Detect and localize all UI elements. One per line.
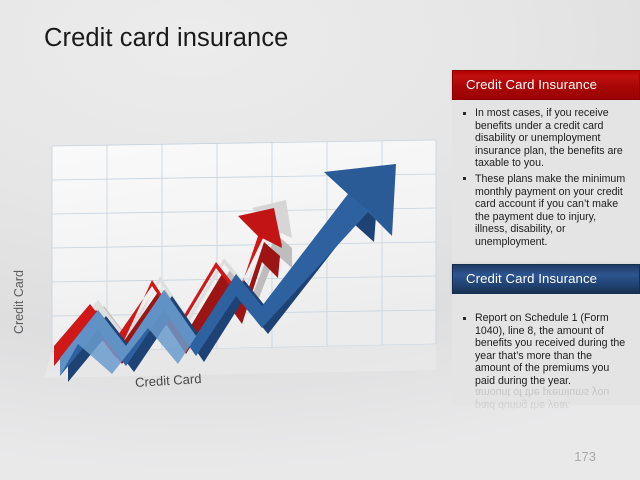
chart-3d-arrows: Credit Card	[18, 138, 448, 398]
page-number: 173	[574, 449, 596, 464]
list-item: In most cases, if you receive benefits u…	[462, 107, 630, 170]
panel-reflection: paid during the year. amount of the prem…	[452, 386, 640, 448]
reflection-line-1: amount of the premiums you	[475, 386, 630, 399]
list-item: Report on Schedule 1 (Form 1040), line 8…	[462, 312, 630, 388]
panel-red-heading: Credit Card Insurance	[452, 70, 640, 100]
panel-credit-card-insurance-red: Credit Card Insurance In most cases, if …	[452, 70, 640, 261]
chart-plot-area	[38, 138, 438, 378]
panel-blue-heading: Credit Card Insurance	[452, 264, 640, 294]
slide-canvas: Credit card insurance	[0, 0, 640, 480]
panel-red-body: In most cases, if you receive benefits u…	[452, 100, 640, 261]
list-item: These plans make the minimum monthly pay…	[462, 173, 630, 249]
chart-y-axis-label: Credit Card	[12, 270, 26, 334]
panel-credit-card-insurance-blue: Credit Card Insurance Report on Schedule…	[452, 264, 640, 405]
panel-red-bullet-list: In most cases, if you receive benefits u…	[462, 107, 630, 249]
panel-blue-bullet-list: Report on Schedule 1 (Form 1040), line 8…	[462, 312, 630, 388]
page-title: Credit card insurance	[44, 24, 288, 53]
reflection-line-2: paid during the year.	[475, 399, 630, 412]
